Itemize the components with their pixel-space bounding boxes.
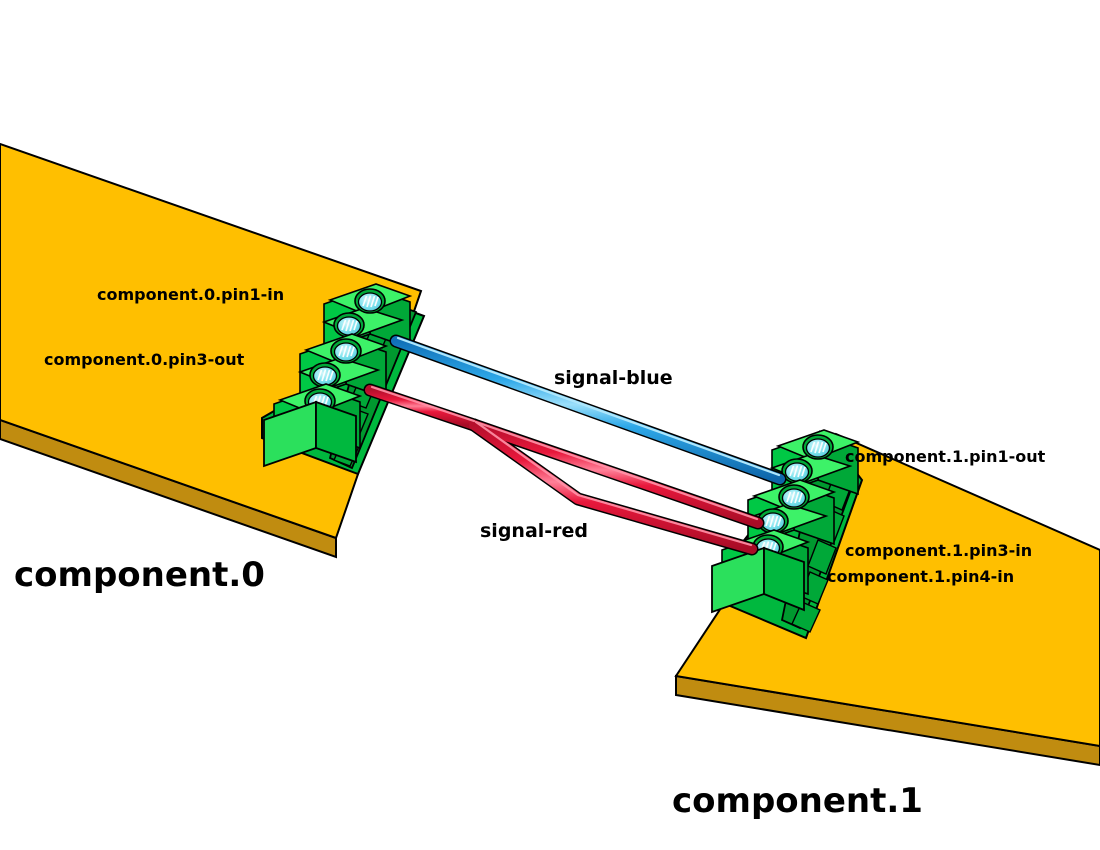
label-component-0: component.0 xyxy=(14,555,265,595)
label-component-0-pin1-in: component.0.pin1-in xyxy=(97,285,284,304)
label-component-1-pin1-out: component.1.pin1-out xyxy=(845,447,1046,466)
label-component-1-pin4-in: component.1.pin4-in xyxy=(827,567,1014,586)
label-signal-blue: signal-blue xyxy=(554,367,673,389)
label-signal-red: signal-red xyxy=(480,520,588,542)
wiring-diagram-scene: component.0.pin1-in component.0.pin3-out… xyxy=(0,0,1100,850)
label-component-1: component.1 xyxy=(672,781,923,821)
label-component-0-pin3-out: component.0.pin3-out xyxy=(44,350,245,369)
label-component-1-pin3-in: component.1.pin3-in xyxy=(845,541,1032,560)
diagram-canvas: component.0.pin1-in component.0.pin3-out… xyxy=(0,0,1100,850)
